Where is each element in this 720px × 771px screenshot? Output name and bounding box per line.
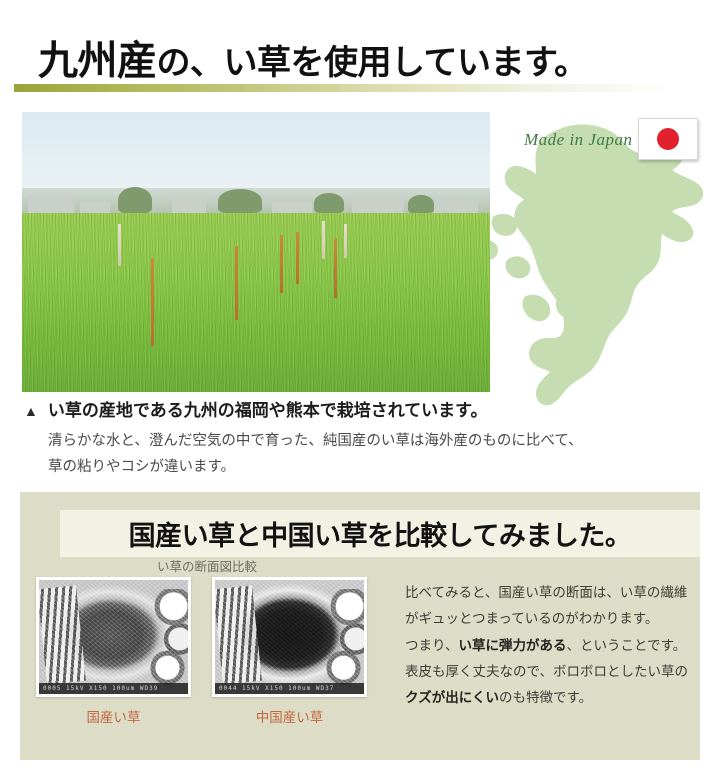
compare-text-line-2: がギュッとつまっているのがわかります。: [405, 606, 705, 632]
figure-caption-domestic: 国産い草: [36, 706, 191, 726]
photo-tree: [314, 193, 344, 213]
photo-stake: [280, 235, 283, 293]
title-gradient-rule: [14, 84, 708, 92]
title-block: 九州産の、い草を使用しています。: [0, 0, 720, 100]
triangle-bullet-icon: ▲: [24, 404, 38, 418]
micro-grain: [39, 580, 188, 694]
figure-caption-chinese: 中国産い草: [212, 706, 367, 726]
flag-red-disc: [657, 128, 679, 150]
compare-line3-pre: つまり、: [405, 638, 458, 653]
caption-line-2: 草の粘りやコシが違います。: [24, 456, 584, 480]
photo-building: [172, 199, 206, 213]
micro-grain: [215, 580, 364, 694]
compare-line5-bold: クズが出にくい: [405, 690, 499, 705]
photo-building: [80, 201, 110, 213]
caption-line-1: 清らかな水と、澄んだ空気の中で育った、純国産のい草は海外産のものに比べて、: [24, 430, 584, 454]
photo-stake: [334, 238, 337, 298]
igusa-field-photo: [22, 112, 490, 392]
caption-headline-row: ▲ い草の産地である九州の福岡や熊本で栽培されています。: [24, 396, 584, 421]
micro-frame-chinese: 0044 15kV X150 100um WD37: [212, 577, 367, 697]
photo-building: [352, 198, 404, 213]
photo-stake: [296, 232, 299, 284]
compare-line3-post: 、ということです。: [566, 638, 686, 653]
section-label: い草の断面図比較: [157, 556, 257, 575]
micro-image-domestic: 0005 15kV X150 100um WD39: [39, 580, 188, 694]
photo-tree: [408, 195, 434, 213]
comparison-body-text: 比べてみると、国産い草の断面は、い草の繊維 がギュッとつまっているのがわかります…: [405, 580, 705, 712]
kyushu-map-icon: [466, 120, 716, 420]
page-title: 九州産の、い草を使用しています。: [38, 28, 588, 86]
photo-caption-block: ▲ い草の産地である九州の福岡や熊本で栽培されています。 清らかな水と、澄んだ空…: [24, 396, 584, 480]
page-title-rest: の、い草を使用しています。: [157, 45, 588, 82]
micro-scalebar-chinese: 0044 15kV X150 100um WD37: [215, 683, 364, 694]
photo-building: [28, 195, 74, 213]
japan-flag-icon: [638, 118, 698, 160]
compare-line3-bold: い草に弾力がある: [458, 638, 566, 653]
photo-stake: [151, 258, 154, 346]
photo-building: [434, 200, 478, 213]
figure-chinese: 0044 15kV X150 100um WD37 中国産い草: [212, 577, 367, 726]
photo-stake: [118, 224, 121, 266]
compare-text-line-5: クズが出にくいのも特徴です。: [405, 685, 705, 711]
comparison-heading-band: 国産い草と中国い草を比較してみました。: [60, 510, 700, 557]
figure-domestic: 0005 15kV X150 100um WD39 国産い草: [36, 577, 191, 726]
photo-stake: [235, 246, 238, 320]
page-title-lead: 九州産: [38, 38, 157, 83]
micro-scalebar-domestic: 0005 15kV X150 100um WD39: [39, 683, 188, 694]
caption-headline: い草の産地である九州の福岡や熊本で栽培されています。: [48, 396, 488, 421]
photo-building: [272, 201, 312, 213]
compare-text-line-1: 比べてみると、国産い草の断面は、い草の繊維: [405, 580, 705, 606]
compare-text-line-4: 表皮も厚く丈夫なので、ボロボロとしたい草の: [405, 659, 705, 685]
comparison-panel: 国産い草と中国い草を比較してみました。 い草の断面図比較 0005 15kV X…: [20, 492, 700, 760]
compare-text-line-3: つまり、い草に弾力がある、ということです。: [405, 633, 705, 659]
photo-stake: [344, 224, 347, 258]
hero-section: Made in Japan ▲ い草の産地である九州の福岡や熊本で栽培されていま…: [0, 100, 720, 480]
micro-image-chinese: 0044 15kV X150 100um WD37: [215, 580, 364, 694]
photo-tree: [218, 189, 262, 213]
made-in-japan-label: Made in Japan: [524, 130, 632, 150]
photo-igusa-field: [22, 213, 490, 392]
comparison-heading: 国産い草と中国い草を比較してみました。: [60, 510, 700, 557]
photo-tree: [118, 187, 152, 213]
micro-frame-domestic: 0005 15kV X150 100um WD39: [36, 577, 191, 697]
compare-line5-post: のも特徴です。: [499, 690, 592, 705]
photo-stake: [322, 221, 325, 259]
